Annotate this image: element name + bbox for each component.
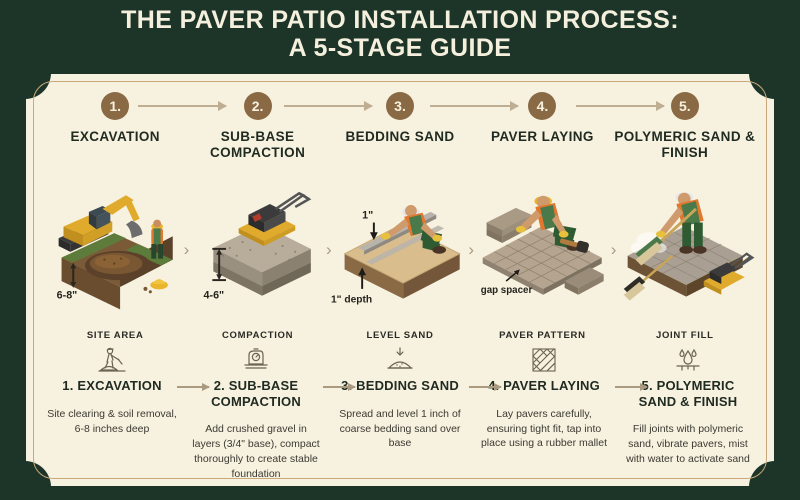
detail-column-4: 4. PAVER LAYING Lay pavers carefully, en… [472,346,616,478]
infographic-poster: THE PAVER PATIO INSTALLATION PROCESS: A … [0,0,800,500]
content-card: 1. EXCAVATION 2. SUB-BASE COMPACTION 3. … [26,74,774,486]
detail-column-2: 2. SUB-BASE COMPACTION Add crushed grave… [184,346,328,478]
title-line-2: A 5-STAGE GUIDE [0,34,800,62]
step-number-badge-5: 5. [671,92,699,120]
digging-worker-icon [46,346,178,374]
joint-fill-sweeping-illustration [614,178,756,311]
illustration-panel-3: 1" 1" depth LEVEL SAND › [329,178,471,343]
illustration-measure-3a: 1" [362,210,373,222]
illustration-caption-2: COMPACTION [186,330,328,341]
illustration-measure-2: 4-6" [204,290,225,302]
detail-body-4: Lay pavers carefully, ensuring tight fit… [478,407,610,452]
detail-row: 1. EXCAVATION Site clearing & soil remov… [40,346,760,478]
sand-pile-icon [334,346,466,374]
detail-column-3: 3. BEDDING SAND Spread and level 1 inch … [328,346,472,478]
step-title-1: EXCAVATION [44,129,186,145]
plate-compactor-gravel-illustration: 4-6" [186,178,328,311]
illustration-caption-1: SITE AREA [44,330,186,341]
detail-column-1: 1. EXCAVATION Site clearing & soil remov… [40,346,184,478]
illustration-panel-2: 4-6" COMPACTION › [186,178,328,343]
detail-body-2: Add crushed gravel in layers (3/4" base)… [190,422,322,482]
illustration-caption-5: JOINT FILL [614,330,756,341]
screeding-sand-illustration: 1" 1" depth [329,178,471,311]
illustration-caption-3: LEVEL SAND [329,330,471,341]
water-mist-icon [622,346,754,374]
step-arrow-4-to-5-icon [576,105,664,107]
compactor-icon [190,346,322,374]
paver-laying-illustration: gap spacer [471,178,613,311]
poster-title: THE PAVER PATIO INSTALLATION PROCESS: A … [0,6,800,62]
detail-heading-1: 1. EXCAVATION [46,378,178,394]
illustration-panel-4: gap spacer PAVER PATTERN › [471,178,613,343]
step-arrow-1-to-2-icon [138,105,226,107]
step-title-3: BEDDING SAND [329,129,471,145]
detail-column-5: 5. POLYMERIC SAND & FINISH Fill joints w… [616,346,760,478]
detail-body-5: Fill joints with polymeric sand, vibrate… [622,422,754,467]
illustration-caption-4: PAVER PATTERN [471,330,613,341]
detail-body-3: Spread and level 1 inch of coarse beddin… [334,407,466,452]
step-arrow-3-to-4-icon [430,105,518,107]
step-header-1: 1. EXCAVATION [44,92,186,145]
step-header-4: 4. PAVER LAYING [471,92,613,145]
step-arrow-2-to-3-icon [284,105,372,107]
step-header-3: 3. BEDDING SAND [329,92,471,145]
detail-arrow-4-to-5-icon [615,386,647,388]
step-title-4: PAVER LAYING [471,129,613,145]
step-number-badge-1: 1. [101,92,129,120]
step-header-2: 2. SUB-BASE COMPACTION [186,92,328,161]
illustration-panel-5: JOINT FILL [614,178,756,343]
step-header-5: 5. POLYMERIC SAND & FINISH [614,92,756,161]
step-title-2: SUB-BASE COMPACTION [186,129,328,161]
step-number-badge-3: 3. [386,92,414,120]
illustration-measure-1: 6-8" [57,290,78,302]
detail-body-1: Site clearing & soil removal, 6-8 inches… [46,407,178,437]
illustration-measure-3b: 1" depth [331,295,372,306]
detail-arrow-3-to-4-icon [469,386,501,388]
illustration-measure-4a: gap spacer [481,285,533,296]
step-header-row: 1. EXCAVATION 2. SUB-BASE COMPACTION 3. … [44,92,756,174]
step-number-badge-2: 2. [244,92,272,120]
illustration-row: 6-8" SITE AREA › [44,178,756,343]
herringbone-pattern-icon [478,346,610,374]
title-line-1: THE PAVER PATIO INSTALLATION PROCESS: [0,6,800,34]
excavator-soil-illustration: 6-8" [44,178,186,311]
step-number-badge-4: 4. [528,92,556,120]
step-title-5: POLYMERIC SAND & FINISH [614,129,756,161]
detail-arrow-1-to-2-icon [177,386,209,388]
detail-arrow-2-to-3-icon [323,386,355,388]
illustration-panel-1: 6-8" SITE AREA › [44,178,186,343]
